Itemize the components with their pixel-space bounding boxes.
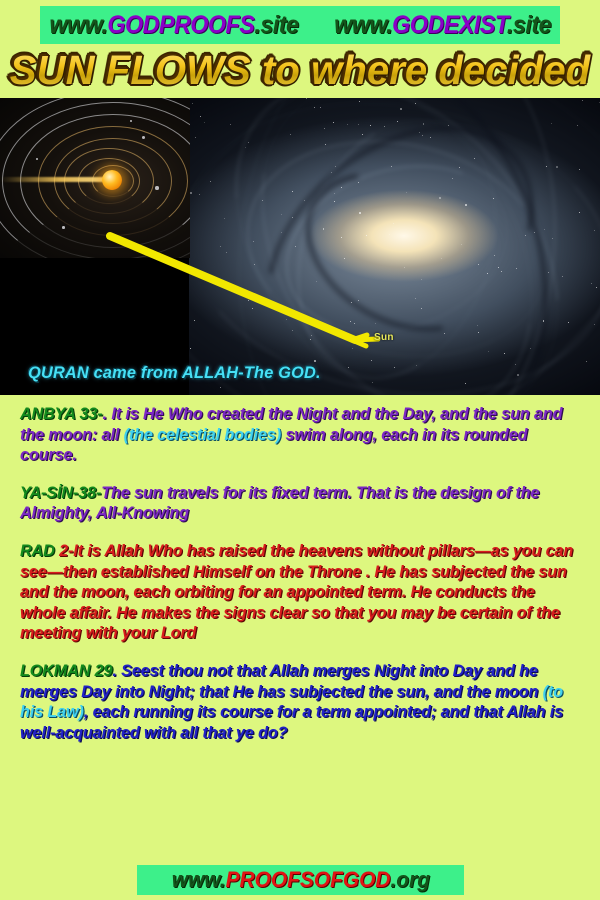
poster-root: www.GODPROOFS.site www.GODEXIST.site SUN… [0,0,600,900]
url-tld: .site [255,11,299,39]
url-godproofs[interactable]: www.GODPROOFS.site [50,11,299,40]
verse-reference: LOKMAN 29 [20,662,112,680]
verse-reference: ANBYA 33- [20,405,103,423]
footer-url-banner: www.PROOFSOFGOD.org [137,865,464,895]
verse-text: , each running its course for a term app… [20,703,563,742]
verse-lokman: LOKMAN 29. Seest thou not that Allah mer… [20,661,579,743]
url-domain-name: GODEXIST [392,11,507,39]
url-godexist[interactable]: www.GODEXIST.site [334,11,551,40]
url-domain-name: GODPROOFS [108,11,255,39]
url-tld: .site [507,11,551,39]
verse-yasin: YA-SİN-38-The sun travels for its fixed … [20,483,579,524]
verse-text: 2-It is Allah Who has raised the heavens… [20,542,573,642]
page-title: SUN FLOWS to where decided [6,44,594,96]
url-www-prefix: www. [334,11,392,39]
verse-list: ANBYA 33-. It is He Who created the Nigh… [20,404,588,760]
top-url-banner: www.GODPROOFS.site www.GODEXIST.site [40,6,560,44]
verse-reference: YA-SİN-38- [20,484,101,502]
pointer-arrow [0,98,600,395]
image-composite [0,98,600,395]
url-www-prefix: www. [50,11,108,39]
url-www-prefix: www. [171,867,225,892]
verse-anbya: ANBYA 33-. It is He Who created the Nigh… [20,404,579,466]
quran-banner: QURAN came from ALLAH-The GOD. [28,363,321,383]
verse-highlight: (the celestial bodies) [124,426,282,444]
sun-label: Sun [374,332,394,343]
verse-rad: RAD 2-It is Allah Who has raised the hea… [20,541,579,644]
url-proofsofgod[interactable]: www.PROOFSOFGOD.org [171,867,429,893]
url-tld: .org [390,867,429,892]
url-domain-name: PROOFSOFGOD [225,867,390,892]
verse-reference: RAD [20,542,55,560]
